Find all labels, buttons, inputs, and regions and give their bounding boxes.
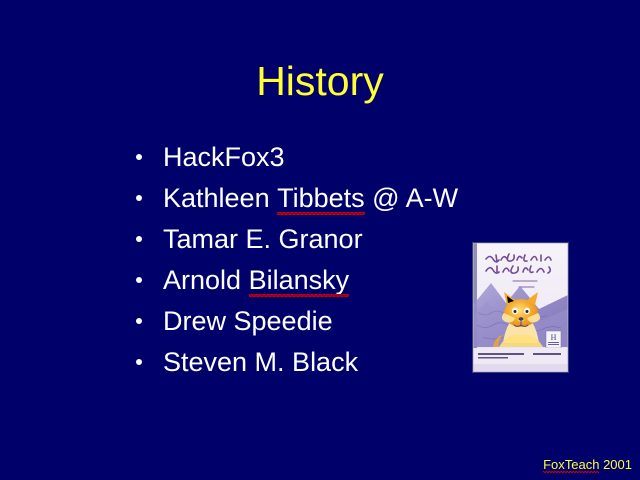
spellcheck-flagged-word: Bilansky <box>249 262 350 298</box>
bullet-dot-icon <box>136 236 142 242</box>
list-item-label-prefix: Arnold <box>163 265 249 295</box>
presentation-slide: History HackFox3 Kathleen Tibbets @ A-W … <box>0 0 640 480</box>
list-item-label: HackFox3 <box>163 142 285 172</box>
book-cover-artwork: H <box>473 243 568 372</box>
list-item[interactable]: Drew Speedie <box>131 303 471 344</box>
bullet-dot-icon <box>136 154 142 160</box>
list-item[interactable]: HackFox3 <box>131 139 471 180</box>
footer-year: 2001 <box>599 457 632 472</box>
list-item[interactable]: Tamar E. Granor <box>131 221 471 262</box>
bullet-list: HackFox3 Kathleen Tibbets @ A-W Tamar E.… <box>131 139 471 385</box>
bullet-dot-icon <box>136 195 142 201</box>
slide-title: History <box>0 57 640 105</box>
list-item-label: Steven M. Black <box>163 347 358 377</box>
list-item-label-prefix: Kathleen <box>163 183 277 213</box>
list-item-label: Tamar E. Granor <box>163 224 363 254</box>
spellcheck-flagged-word: Tibbets <box>277 180 365 216</box>
slide-footer: FoxTeach 2001 <box>0 457 632 473</box>
list-item[interactable]: Steven M. Black <box>131 344 471 385</box>
list-item[interactable]: Kathleen Tibbets @ A-W <box>131 180 471 221</box>
footer-flagged-word: FoxTeach <box>543 457 599 473</box>
publisher-logo-icon: H <box>546 331 561 348</box>
bullet-dot-icon <box>136 277 142 283</box>
svg-text:H: H <box>551 333 557 342</box>
list-item-label: Drew Speedie <box>163 306 333 336</box>
book-cover-image: H <box>473 243 568 372</box>
list-item-label-suffix: @ A-W <box>365 183 458 213</box>
bullet-dot-icon <box>136 318 142 324</box>
bullet-dot-icon <box>136 359 142 365</box>
list-item[interactable]: Arnold Bilansky <box>131 262 471 303</box>
